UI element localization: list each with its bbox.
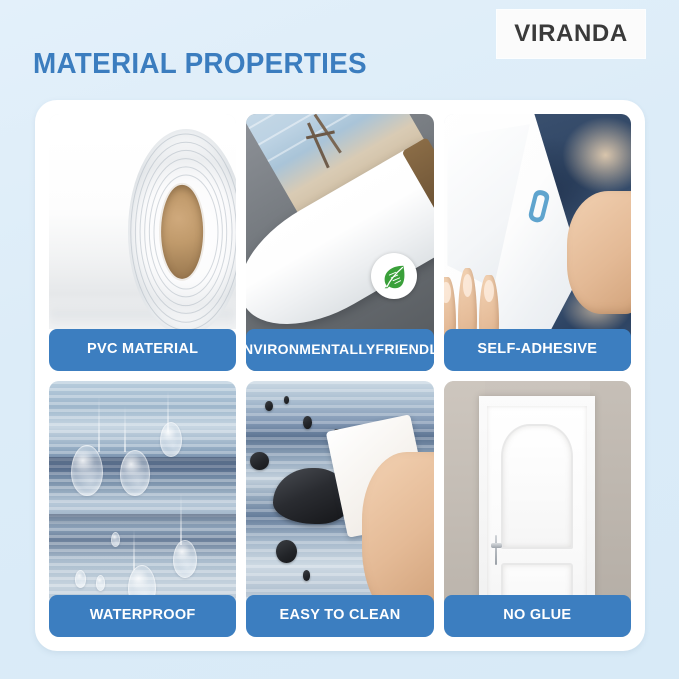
water-droplet bbox=[120, 450, 150, 496]
brand-name: VIRANDA bbox=[514, 20, 628, 48]
roll-cardboard-core bbox=[161, 185, 203, 279]
feature-card-self-adhesive[interactable]: SELF-ADHESIVE bbox=[444, 114, 631, 371]
feature-card-pvc-material[interactable]: PVC MATERIAL bbox=[49, 114, 236, 371]
water-droplet bbox=[96, 575, 105, 590]
feature-label-waterproof: WATERPROOF bbox=[49, 595, 236, 637]
feature-label-self-adhesive: SELF-ADHESIVE bbox=[444, 329, 631, 371]
water-droplet bbox=[160, 422, 182, 458]
feature-label-pvc-material: PVC MATERIAL bbox=[49, 329, 236, 371]
right-hand bbox=[567, 191, 631, 314]
roll-end-face bbox=[128, 129, 237, 334]
feature-card-environmentally-friendly[interactable]: ENVIRONMENTALLYFRIENDLY bbox=[246, 114, 433, 371]
water-droplet bbox=[173, 540, 197, 578]
features-grid: PVC MATERIAL bbox=[49, 114, 631, 637]
feature-card-easy-to-clean[interactable]: EASY TO CLEAN bbox=[246, 381, 433, 638]
page-title: MATERIAL PROPERTIES bbox=[33, 48, 367, 81]
feature-label-easy-to-clean: EASY TO CLEAN bbox=[246, 595, 433, 637]
door-handle bbox=[491, 535, 502, 565]
feature-label-no-glue: NO GLUE bbox=[444, 595, 631, 637]
leaf-icon bbox=[371, 253, 417, 299]
brand-logo-box: VIRANDA bbox=[497, 10, 645, 58]
feature-card-no-glue[interactable]: NO GLUE bbox=[444, 381, 631, 638]
feature-label-environmentally-friendly: ENVIRONMENTALLYFRIENDLY bbox=[246, 329, 433, 371]
features-panel: PVC MATERIAL bbox=[35, 100, 645, 651]
feature-card-waterproof[interactable]: WATERPROOF bbox=[49, 381, 236, 638]
